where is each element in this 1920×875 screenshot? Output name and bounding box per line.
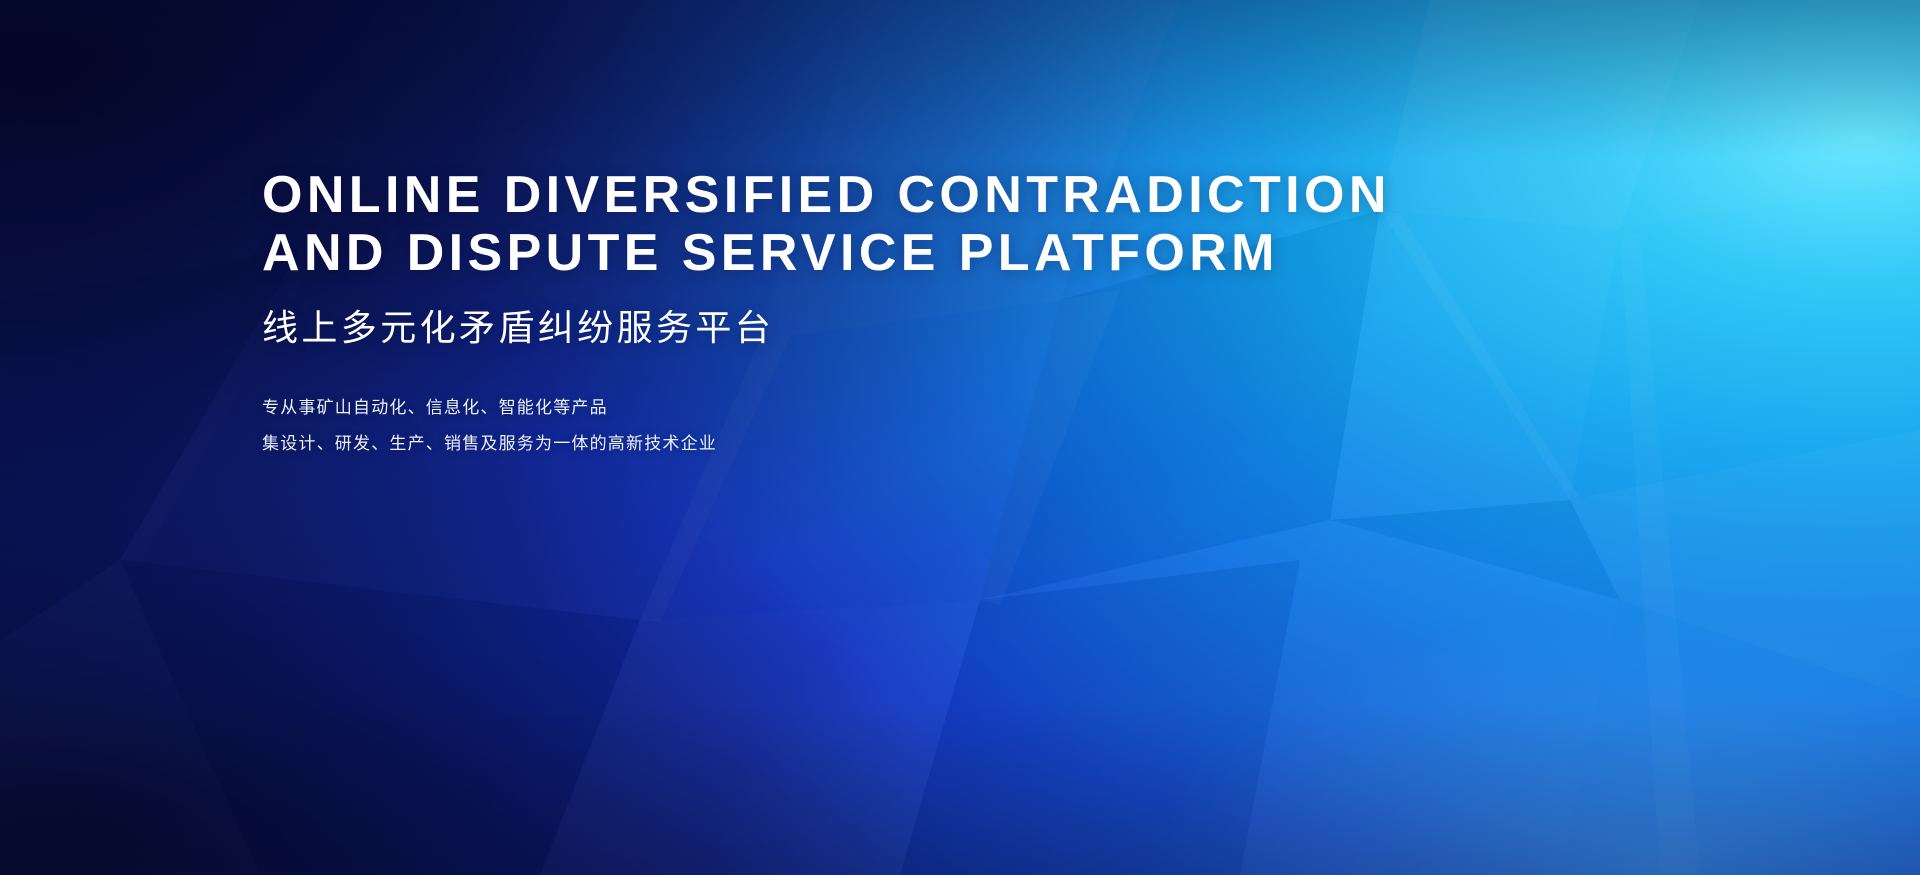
banner-description-line-1: 专从事矿山自动化、信息化、智能化等产品: [262, 390, 1562, 426]
banner-description: 专从事矿山自动化、信息化、智能化等产品 集设计、研发、生产、销售及服务为一体的高…: [262, 390, 1562, 462]
banner-subtitle-chinese: 线上多元化矛盾纠纷服务平台: [262, 306, 1562, 350]
hero-banner: ONLINE DIVERSIFIED CONTRADICTION AND DIS…: [0, 0, 1920, 875]
banner-headline-english: ONLINE DIVERSIFIED CONTRADICTION AND DIS…: [262, 166, 1562, 282]
banner-description-line-2: 集设计、研发、生产、销售及服务为一体的高新技术企业: [262, 426, 1562, 462]
banner-content: ONLINE DIVERSIFIED CONTRADICTION AND DIS…: [262, 166, 1562, 462]
